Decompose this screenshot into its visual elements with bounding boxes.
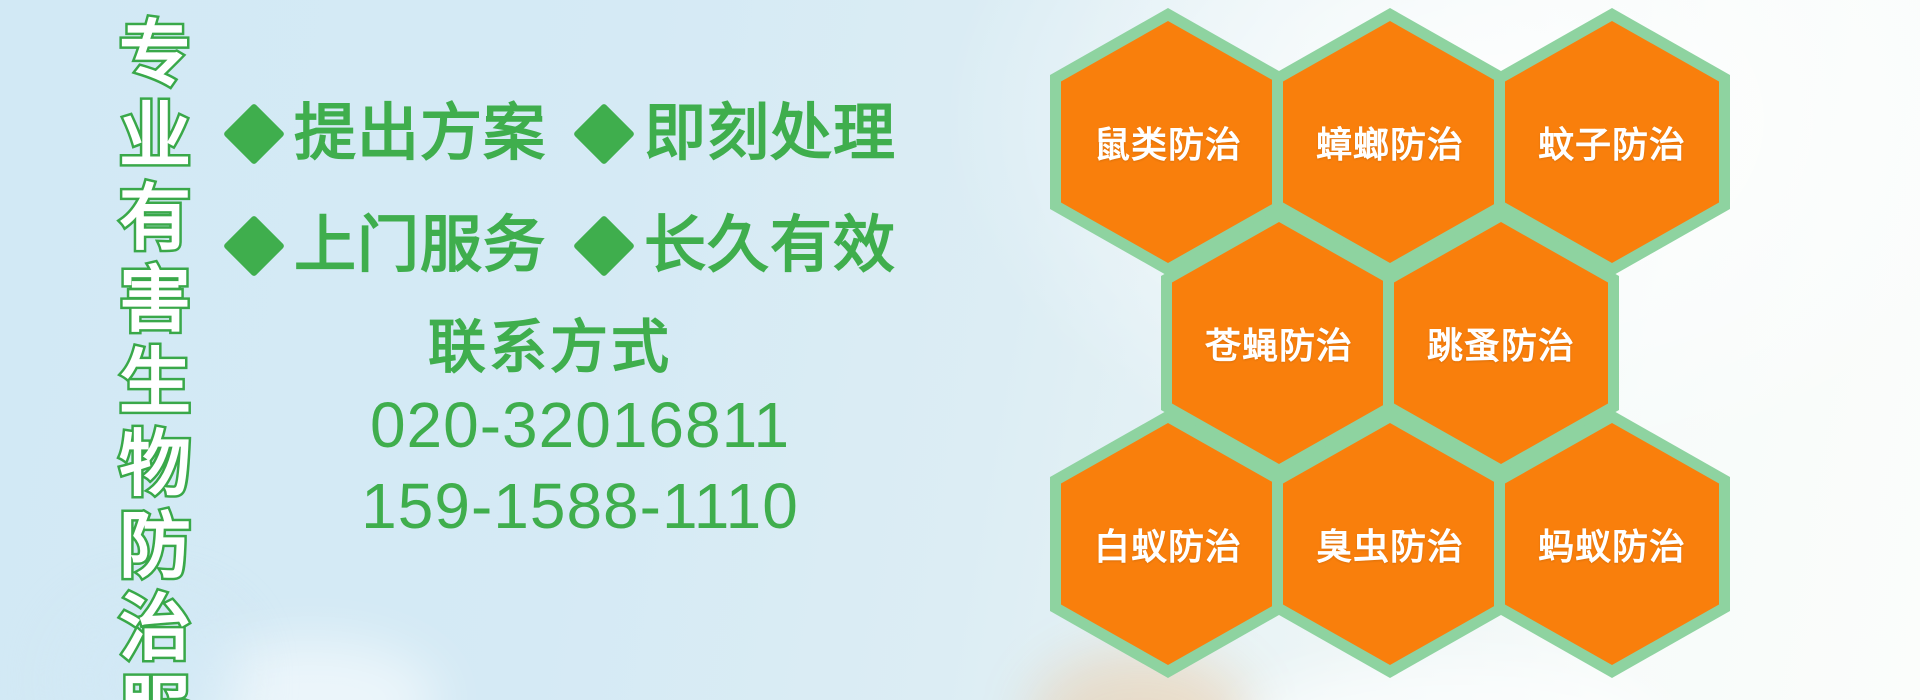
- service-honeycomb: 鼠类防治 蟑螂防治 蚊子防治 苍蝇防治: [1055, 0, 1695, 700]
- feature-item: 即刻处理: [582, 103, 896, 165]
- vertical-title-char: 服: [119, 670, 191, 700]
- hexagon-inner: 蚂蚁防治: [1505, 423, 1719, 665]
- hex-cell-ant[interactable]: 蚂蚁防治: [1494, 410, 1730, 678]
- contact-title: 联系方式: [240, 312, 860, 385]
- hex-label: 白蚁防治: [1094, 518, 1242, 570]
- hexagon-shape: 臭虫防治: [1272, 410, 1508, 678]
- contact-phone-mobile[interactable]: 159-1588-1110: [300, 466, 860, 548]
- hexagon-inner: 白蚁防治: [1061, 423, 1275, 665]
- hexagon-shape: 白蚁防治: [1050, 410, 1286, 678]
- diamond-bullet-icon: [223, 103, 285, 165]
- diamond-bullet-icon: [223, 215, 285, 277]
- hex-label: 跳蚤防治: [1427, 317, 1575, 369]
- feature-item: 提出方案: [232, 103, 546, 165]
- hex-label: 蟑螂防治: [1316, 116, 1464, 168]
- vertical-title-char: 生: [119, 342, 191, 424]
- diamond-bullet-icon: [573, 215, 635, 277]
- background-blur-blob: [180, 640, 440, 700]
- hexagon-shape: 蚂蚁防治: [1494, 410, 1730, 678]
- hex-label: 鼠类防治: [1094, 116, 1242, 168]
- feature-item: 上门服务: [232, 215, 546, 277]
- feature-label: 提出方案: [294, 103, 546, 165]
- feature-label: 长久有效: [644, 215, 896, 277]
- diamond-bullet-icon: [573, 103, 635, 165]
- hex-label: 蚊子防治: [1538, 116, 1686, 168]
- contact-block: 联系方式 020-32016811 159-1588-1110: [300, 312, 860, 548]
- contact-phone-landline[interactable]: 020-32016811: [300, 385, 860, 467]
- feature-row: 上门服务 长久有效: [232, 190, 872, 302]
- hex-label: 蚂蚁防治: [1538, 518, 1686, 570]
- vertical-title-char: 业: [119, 96, 191, 178]
- hex-cell-bedbug[interactable]: 臭虫防治: [1272, 410, 1508, 678]
- feature-item: 长久有效: [582, 215, 896, 277]
- feature-label: 上门服务: [294, 215, 546, 277]
- vertical-title-char: 物: [119, 424, 191, 506]
- vertical-title-char: 害: [119, 260, 191, 342]
- hex-cell-termite[interactable]: 白蚁防治: [1050, 410, 1286, 678]
- feature-list: 提出方案 即刻处理 上门服务 长久有效: [232, 78, 872, 302]
- vertical-title-char: 治: [119, 588, 191, 670]
- vertical-title-char: 专: [119, 14, 191, 96]
- vertical-title-char: 有: [119, 178, 191, 260]
- pest-control-banner: 专 业 有 害 生 物 防 治 服 务 提出方案 即刻处理 上门服务: [0, 0, 1920, 700]
- hex-label: 臭虫防治: [1316, 518, 1464, 570]
- feature-row: 提出方案 即刻处理: [232, 78, 872, 190]
- hexagon-inner: 臭虫防治: [1283, 423, 1497, 665]
- hex-label: 苍蝇防治: [1205, 317, 1353, 369]
- vertical-title-char: 防: [119, 506, 191, 588]
- feature-label: 即刻处理: [644, 103, 896, 165]
- vertical-title: 专 业 有 害 生 物 防 治 服 务: [100, 14, 210, 686]
